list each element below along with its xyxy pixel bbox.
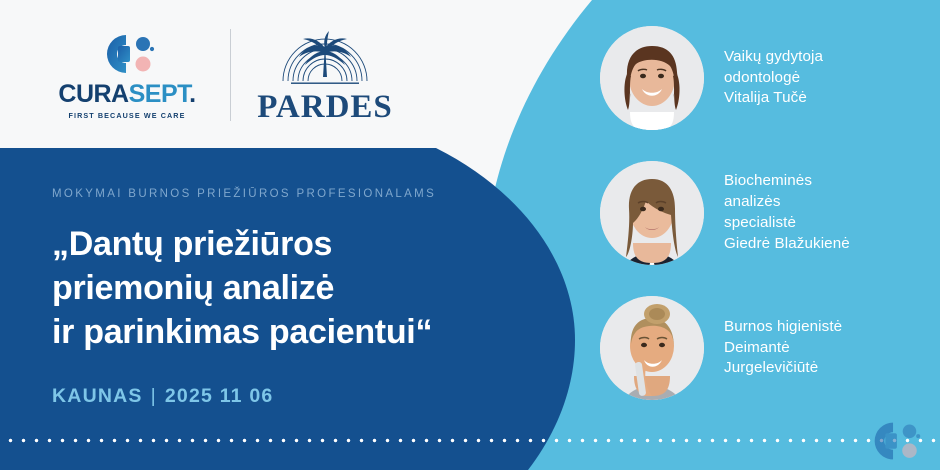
speaker-name-block: Biocheminės analizės specialistė Giedrė … xyxy=(724,171,850,255)
speaker-line-3: Vitalija Tučė xyxy=(724,88,823,109)
portrait-illustration xyxy=(600,296,704,400)
speaker-name-block: Burnos higienistė Deimantė Jurgelevičiūt… xyxy=(724,317,842,380)
eyebrow-text: MOKYMAI BURNOS PRIEŽIŪROS PROFESIONALAMS xyxy=(52,188,522,200)
logo-bar: CURASEPT. FIRST BECAUSE WE CARE xyxy=(0,0,560,150)
headline-line-1: „Dantų priežiūros xyxy=(52,222,522,266)
speaker-avatar-vitalija-tuce xyxy=(600,26,704,130)
dotted-separator xyxy=(0,438,940,443)
meta-separator: | xyxy=(143,385,165,407)
speaker-line-1: Vaikų gydytoja xyxy=(724,47,823,68)
speaker-line-2: analizės xyxy=(724,192,850,213)
left-content-block: MOKYMAI BURNOS PRIEŽIŪROS PROFESIONALAMS… xyxy=(52,188,522,408)
speaker-line-3: Jurgelevičiūtė xyxy=(724,358,842,379)
curasept-word-period: . xyxy=(189,80,195,108)
curasept-wordmark: CURASEPT. xyxy=(58,82,195,107)
curasept-watermark-icon xyxy=(864,418,924,464)
curasept-logo: CURASEPT. FIRST BECAUSE WE CARE xyxy=(52,31,202,120)
event-city: KAUNAS xyxy=(52,385,143,407)
pardes-palm-tree-icon xyxy=(277,27,373,93)
poster-root: CURASEPT. FIRST BECAUSE WE CARE xyxy=(0,0,940,470)
headline-line-3: ir parinkimas pacientui“ xyxy=(52,310,522,354)
curasept-word-part-2: SEPT xyxy=(129,80,190,108)
speaker-line-4: Giedrė Blažukienė xyxy=(724,234,850,255)
speaker-item: Vaikų gydytoja odontologė Vitalija Tučė xyxy=(600,26,940,130)
speaker-line-3: specialistė xyxy=(724,213,850,234)
headline-line-2: priemonių analizė xyxy=(52,266,522,310)
speaker-line-2: Deimantė xyxy=(724,338,842,359)
speaker-line-2: odontologė xyxy=(724,68,823,89)
curasept-word-part-1: CURA xyxy=(58,80,128,108)
speaker-name-block: Vaikų gydytoja odontologė Vitalija Tučė xyxy=(724,47,823,110)
speaker-item: Biocheminės analizės specialistė Giedrė … xyxy=(600,161,940,265)
speaker-list: Vaikų gydytoja odontologė Vitalija Tučė xyxy=(600,18,940,430)
curasept-tagline: FIRST BECAUSE WE CARE xyxy=(69,111,186,120)
pardes-logo: PARDES xyxy=(265,27,385,124)
curasept-c-mark-icon xyxy=(96,31,158,77)
speaker-line-1: Burnos higienistė xyxy=(724,317,842,338)
speaker-line-1: Biocheminės xyxy=(724,171,850,192)
portrait-illustration xyxy=(600,161,704,265)
speaker-avatar-deimante-jurgeleviciute xyxy=(600,296,704,400)
event-meta: KAUNAS|2025 11 06 xyxy=(52,385,522,408)
speaker-avatar-giedre-blazukiene xyxy=(600,161,704,265)
vertical-divider xyxy=(230,29,231,121)
portrait-illustration xyxy=(600,26,704,130)
pardes-wordmark: PARDES xyxy=(257,91,393,124)
speaker-item: Burnos higienistė Deimantė Jurgelevičiūt… xyxy=(600,296,940,400)
page-title: „Dantų priežiūros priemonių analizė ir p… xyxy=(52,222,522,355)
event-date: 2025 11 06 xyxy=(165,385,274,407)
